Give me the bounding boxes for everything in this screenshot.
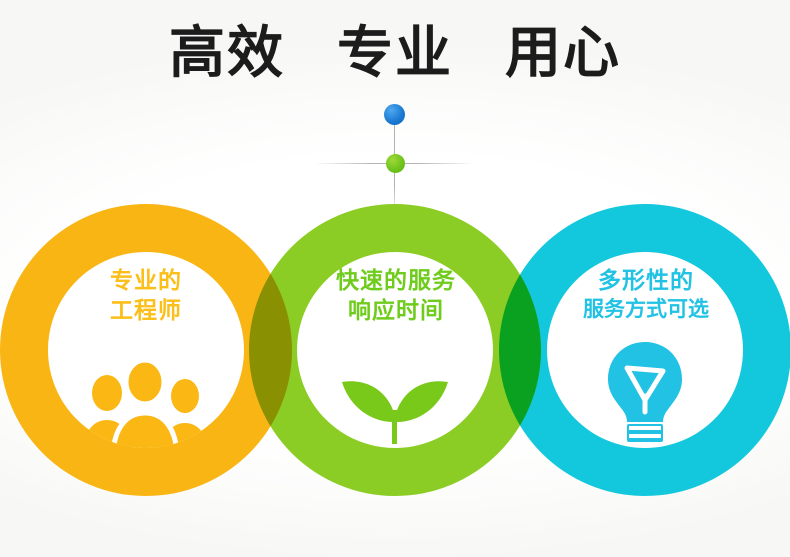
card-line: 服务方式可选 xyxy=(583,296,709,324)
poster-canvas: 高效专业用心 xyxy=(0,0,790,557)
card-flexible-service-options[interactable]: 多形性的 服务方式可选 xyxy=(546,250,746,450)
card-line: 响应时间 xyxy=(348,296,444,326)
card-line: 多形性的 xyxy=(598,266,694,296)
card-fast-service-response[interactable]: 快速的服务 响应时间 xyxy=(296,250,496,450)
card-line: 专业的 xyxy=(110,266,182,296)
card-line: 快速的服务 xyxy=(336,266,456,296)
card-professional-engineers[interactable]: 专业的 工程师 xyxy=(46,250,246,450)
card-line: 工程师 xyxy=(110,296,182,326)
